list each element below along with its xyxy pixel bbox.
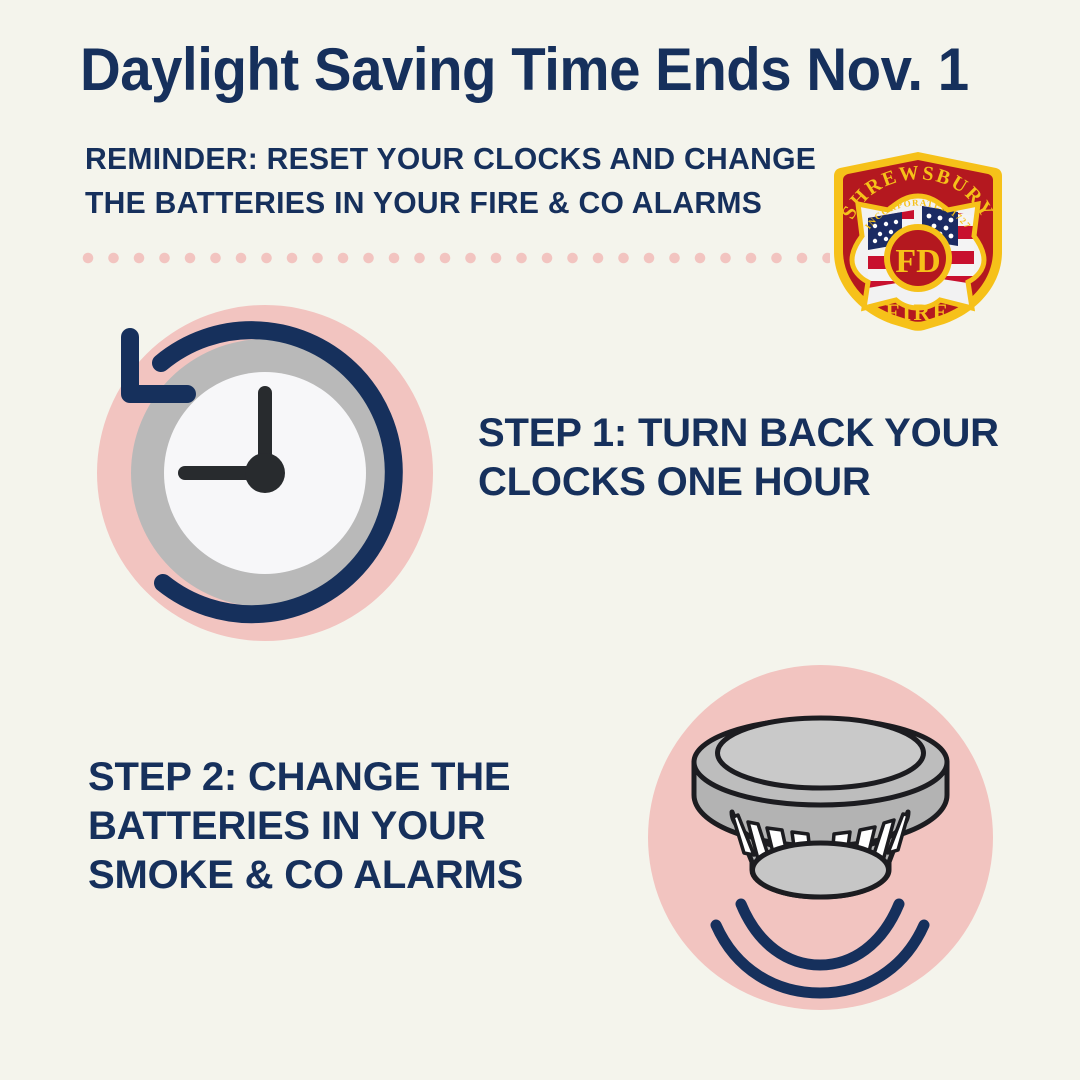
reminder-subtitle: REMINDER: RESET YOUR CLOCKS AND CHANGE T… — [85, 137, 822, 225]
clock-center-hub — [245, 453, 285, 493]
reminder-subtitle-line-1: REMINDER: RESET YOUR CLOCKS AND CHANGE — [85, 137, 822, 181]
alarm-inner-disc — [718, 718, 924, 788]
step-2-line-3: SMOKE & CO ALARMS — [88, 851, 558, 900]
step-1-line-1: STEP 1: TURN BACK YOUR — [478, 409, 1018, 458]
alarm-body — [694, 718, 947, 846]
smoke-alarm-icon — [648, 665, 993, 1010]
step-2-line-2: BATTERIES IN YOUR — [88, 802, 558, 851]
step-1-label: STEP 1: TURN BACK YOUR CLOCKS ONE HOUR — [478, 409, 1018, 507]
reminder-subtitle-line-2: THE BATTERIES IN YOUR FIRE & CO ALARMS — [85, 181, 822, 225]
badge-bottom-text: FIRE — [886, 300, 951, 325]
clock-illustration — [97, 305, 433, 641]
dotted-divider — [82, 252, 830, 264]
shrewsbury-fire-badge: FD SHREWSBURY INCORPORATED 1727 FIRE — [828, 148, 1008, 333]
step-2-line-1: STEP 2: CHANGE THE — [88, 753, 558, 802]
smoke-alarm-illustration — [648, 665, 993, 1010]
poster-canvas: Daylight Saving Time Ends Nov. 1 REMINDE… — [0, 0, 1080, 1080]
step-1-line-2: CLOCKS ONE HOUR — [478, 458, 1018, 507]
badge-icon: FD SHREWSBURY INCORPORATED 1727 FIRE — [828, 148, 1008, 333]
badge-monogram: FD — [895, 243, 940, 280]
clock-turn-back-icon — [97, 305, 433, 641]
alarm-bottom-disc — [753, 843, 889, 897]
page-title: Daylight Saving Time Ends Nov. 1 — [80, 38, 954, 101]
step-2-label: STEP 2: CHANGE THE BATTERIES IN YOUR SMO… — [88, 753, 558, 899]
